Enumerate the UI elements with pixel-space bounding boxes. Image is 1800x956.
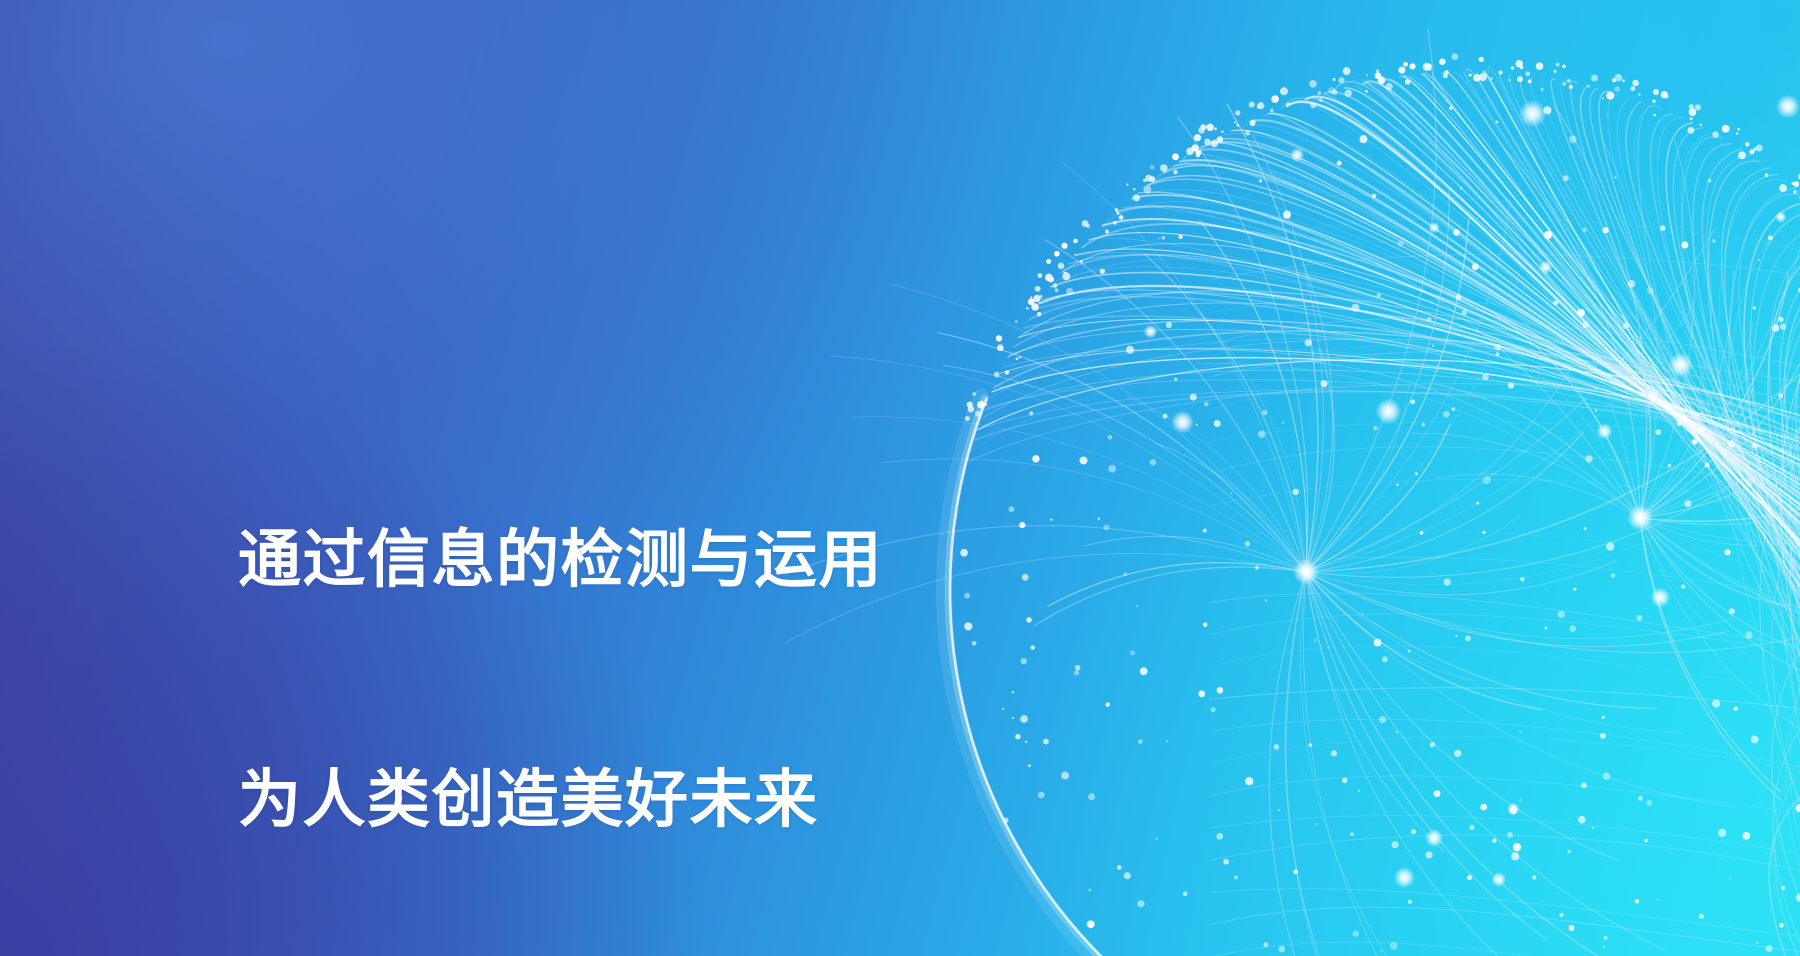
hero-banner: 通过信息的检测与运用 为人类创造美好未来	[0, 0, 1800, 956]
headline-line-1: 通过信息的检测与运用	[238, 520, 883, 600]
headline-text-block: 通过信息的检测与运用 为人类创造美好未来	[238, 360, 883, 956]
headline-line-2: 为人类创造美好未来	[238, 760, 883, 840]
